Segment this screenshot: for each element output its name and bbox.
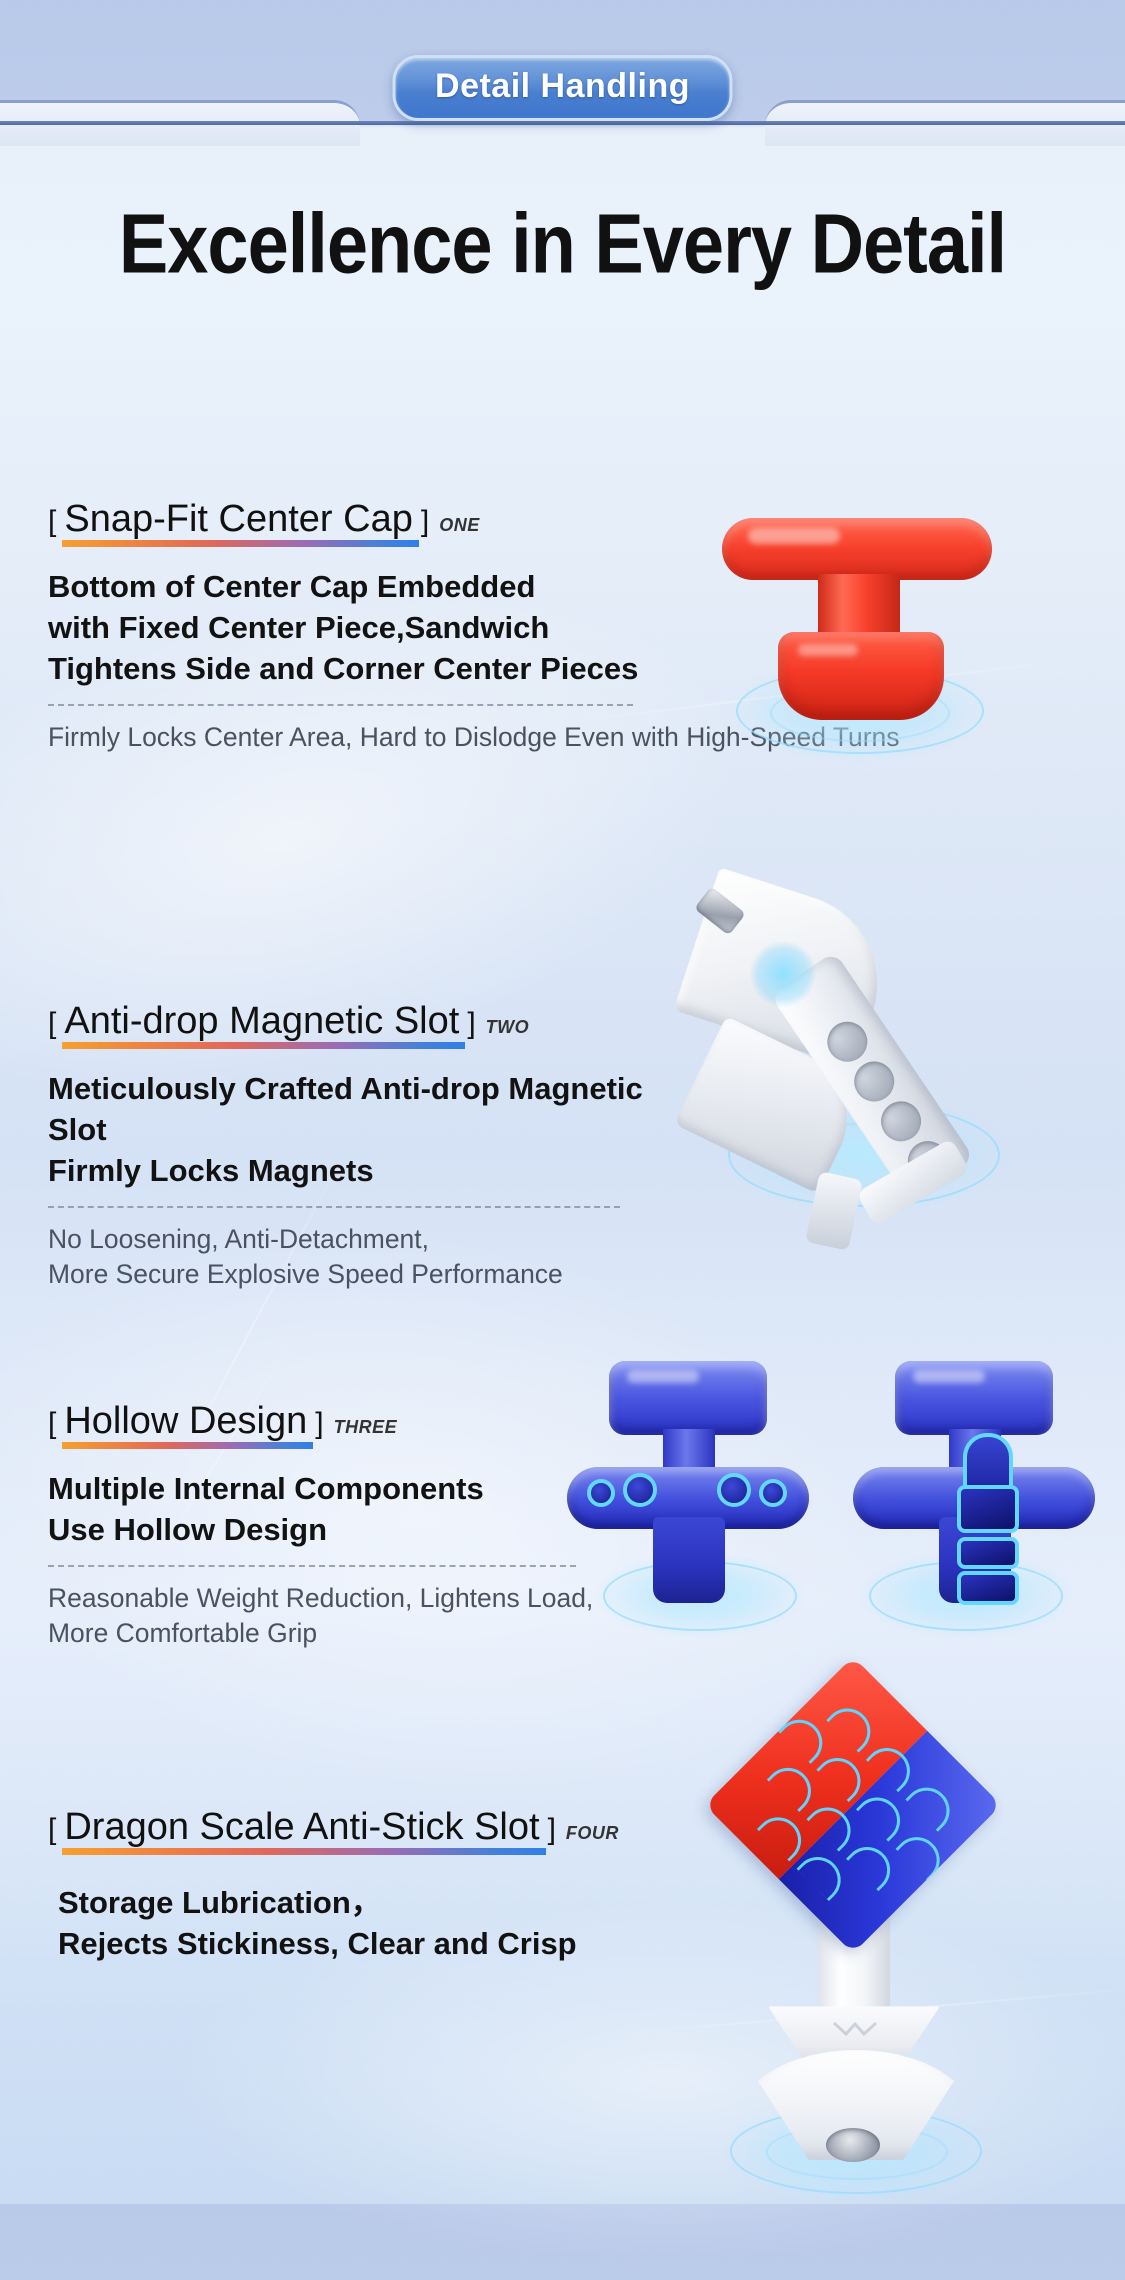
feature-body: Multiple Internal Components Use Hollow … <box>48 1469 568 1551</box>
feature-ordinal: ONE <box>439 515 480 536</box>
magnet-hole <box>846 1054 902 1110</box>
feature-ordinal: THREE <box>334 1417 398 1438</box>
piece-top-cap <box>895 1361 1053 1435</box>
hollow-cavity-square <box>957 1537 1019 1569</box>
cap-top-bar <box>722 518 992 580</box>
feature-caption-line: More Secure Explosive Speed Performance <box>48 1257 1057 1293</box>
feature-body-line: Tightens Side and Corner Center Pieces <box>48 649 688 690</box>
bracket-open: [ <box>48 1813 56 1847</box>
bracket-close: ] <box>548 1813 556 1847</box>
hollow-cavity-square <box>957 1571 1019 1605</box>
page-title: Excellence in Every Detail <box>0 195 1125 292</box>
dragon-scale-diamond <box>705 1657 1002 1954</box>
feature-title: Hollow Design <box>56 1400 315 1449</box>
bracket-open: [ <box>48 505 56 539</box>
feature-title: Snap-Fit Center Cap <box>56 498 421 547</box>
brand-logo-icon <box>832 2020 878 2038</box>
feature-divider <box>48 704 633 706</box>
feature-ordinal: FOUR <box>566 1823 619 1844</box>
bracket-close: ] <box>315 1407 323 1441</box>
feature-divider <box>48 1565 576 1567</box>
magnet-hole <box>873 1094 929 1150</box>
feature-body-line: Multiple Internal Components <box>48 1469 568 1510</box>
feature-body-line: with Fixed Center Piece,Sandwich <box>48 608 688 649</box>
feature-title: Anti-drop Magnetic Slot <box>56 1000 467 1049</box>
feature-body-line: Meticulously Crafted Anti-drop Magnetic … <box>48 1069 688 1151</box>
feature-ordinal: TWO <box>486 1017 530 1038</box>
hollow-cavity-square <box>957 1485 1019 1533</box>
hollow-cavity-round <box>759 1479 787 1507</box>
bracket-open: [ <box>48 1007 56 1041</box>
top-banner: Detail Handling <box>0 0 1125 128</box>
banner-label: Detail Handling <box>435 67 690 106</box>
cap-base <box>778 632 944 720</box>
product-image-white-magnetic-slot-corner-piece <box>640 875 1040 1235</box>
piece-top-cap <box>609 1361 767 1435</box>
feature-body: Storage Lubrication， Rejects Stickiness,… <box>48 1883 708 1965</box>
product-image-dragon-scale-corner-piece <box>690 1690 1020 2120</box>
piece-stem <box>653 1517 725 1603</box>
hollow-cavity-round <box>623 1473 657 1507</box>
feature-body-line: Firmly Locks Magnets <box>48 1151 688 1192</box>
bracket-close: ] <box>421 505 429 539</box>
feature-title: Dragon Scale Anti-Stick Slot <box>56 1806 547 1855</box>
hollow-piece-round-holes <box>565 1355 810 1605</box>
dragon-piece-screw <box>826 2128 880 2162</box>
magnet-hole <box>820 1014 876 1070</box>
feature-body-line: Bottom of Center Cap Embedded <box>48 567 688 608</box>
banner-divider-rule <box>0 121 1125 125</box>
product-image-blue-hollow-design-pieces <box>565 1355 1095 1645</box>
banner-pill: Detail Handling <box>392 55 733 121</box>
magnet-glow-highlight <box>750 941 816 1007</box>
hollow-cavity-round <box>717 1473 751 1507</box>
product-image-red-snap-fit-center-cap <box>700 500 1020 760</box>
bracket-close: ] <box>467 1007 475 1041</box>
hollow-piece-square-cavities <box>851 1355 1096 1605</box>
hollow-cavity-round <box>587 1479 615 1507</box>
feature-divider <box>48 1206 620 1208</box>
feature-body-line: Rejects Stickiness, Clear and Crisp <box>58 1924 708 1965</box>
feature-body: Bottom of Center Cap Embedded with Fixed… <box>48 567 688 690</box>
feature-body-line: Use Hollow Design <box>48 1510 568 1551</box>
bracket-open: [ <box>48 1407 56 1441</box>
feature-body: Meticulously Crafted Anti-drop Magnetic … <box>48 1069 688 1192</box>
feature-body-line: Storage Lubrication， <box>58 1883 708 1924</box>
